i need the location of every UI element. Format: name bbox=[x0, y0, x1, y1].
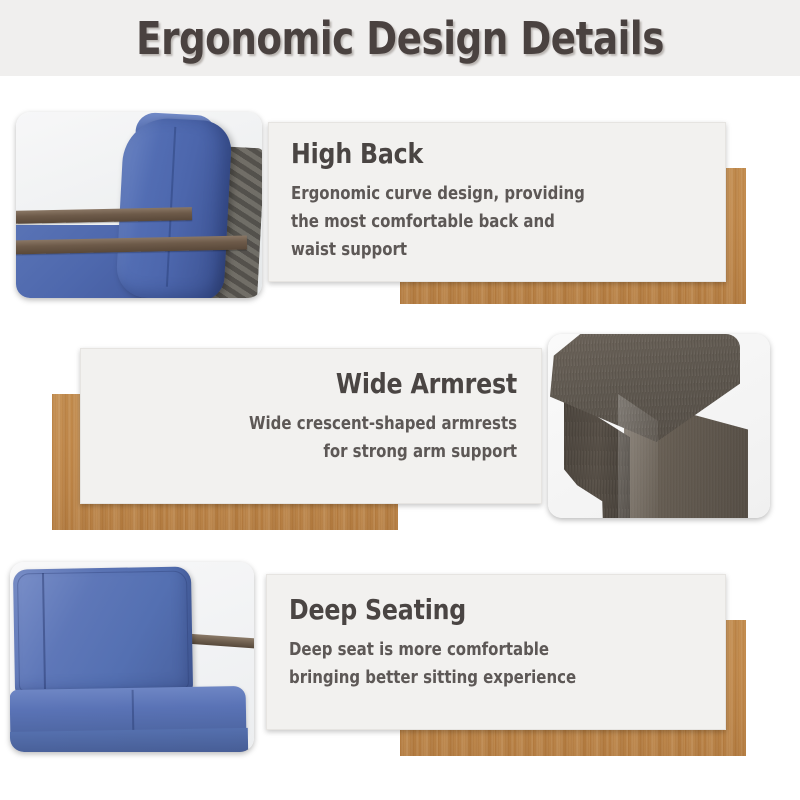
feature-title-deep-seating: Deep Seating bbox=[289, 595, 682, 626]
feature-description-line: Wide crescent-shaped armrests bbox=[120, 410, 517, 438]
feature-photo-wide-armrest bbox=[548, 334, 770, 518]
feature-description-line: Ergonomic curve design, providing bbox=[291, 180, 686, 208]
feature-text-panel-wide-armrest: Wide Armrest Wide crescent-shaped armres… bbox=[80, 348, 542, 504]
page-title: Ergonomic Design Details bbox=[32, 0, 768, 76]
seat-cushion-lower-shape bbox=[10, 728, 248, 752]
feature-photo-high-back bbox=[16, 112, 262, 298]
feature-description-deep-seating: Deep seat is more comfortable bringing b… bbox=[289, 636, 686, 693]
feature-text-panel-high-back: High Back Ergonomic curve design, provid… bbox=[268, 122, 726, 282]
feature-description-line: waist support bbox=[291, 236, 686, 264]
back-cushion-shape bbox=[13, 566, 193, 695]
feature-description-line: Deep seat is more comfortable bbox=[289, 636, 686, 664]
feature-title-high-back: High Back bbox=[291, 139, 682, 170]
feature-title-wide-armrest: Wide Armrest bbox=[124, 369, 517, 400]
feature-description-wide-armrest: Wide crescent-shaped armrests for strong… bbox=[120, 410, 517, 467]
feature-description-line: the most comfortable back and bbox=[291, 208, 686, 236]
feature-description-high-back: Ergonomic curve design, providing the mo… bbox=[291, 180, 686, 265]
feature-text-panel-deep-seating: Deep Seating Deep seat is more comfortab… bbox=[266, 574, 726, 730]
feature-description-line: bringing better sitting experience bbox=[289, 664, 686, 692]
feature-photo-deep-seating bbox=[10, 562, 254, 752]
feature-description-line: for strong arm support bbox=[120, 438, 517, 466]
